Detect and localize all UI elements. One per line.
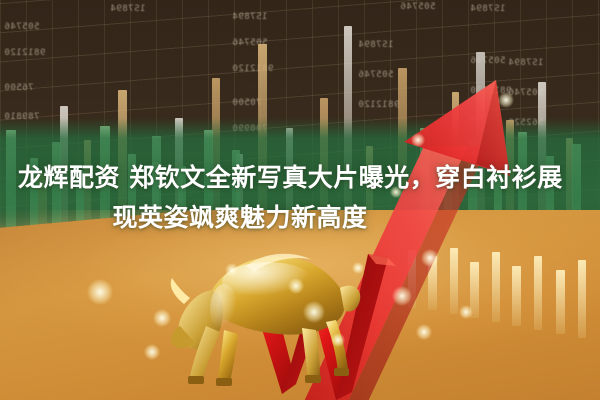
headline-line-2: 现英姿飒爽魅力新高度 (18, 198, 582, 238)
news-banner: 1S78945057469812120765007898101S78945057… (0, 0, 600, 400)
gold-histogram-bar (578, 260, 586, 338)
headline-line-1: 龙辉配资 郑钦文全新写真大片曝光，穿白衬衫展 (18, 158, 582, 198)
gold-histogram-bar (556, 270, 565, 334)
gold-histogram-bar (450, 248, 458, 314)
gold-histogram-bar (492, 252, 500, 322)
gold-histogram-bar (512, 266, 521, 326)
gold-histogram-bar (534, 256, 542, 330)
headline: 龙辉配资 郑钦文全新写真大片曝光，穿白衬衫展 现英姿飒爽魅力新高度 (0, 158, 600, 238)
golden-bull-statue-icon (150, 230, 365, 395)
gold-histogram-bar (408, 250, 416, 308)
gold-histogram-bar (470, 262, 479, 318)
gold-histogram-bar (428, 256, 437, 310)
